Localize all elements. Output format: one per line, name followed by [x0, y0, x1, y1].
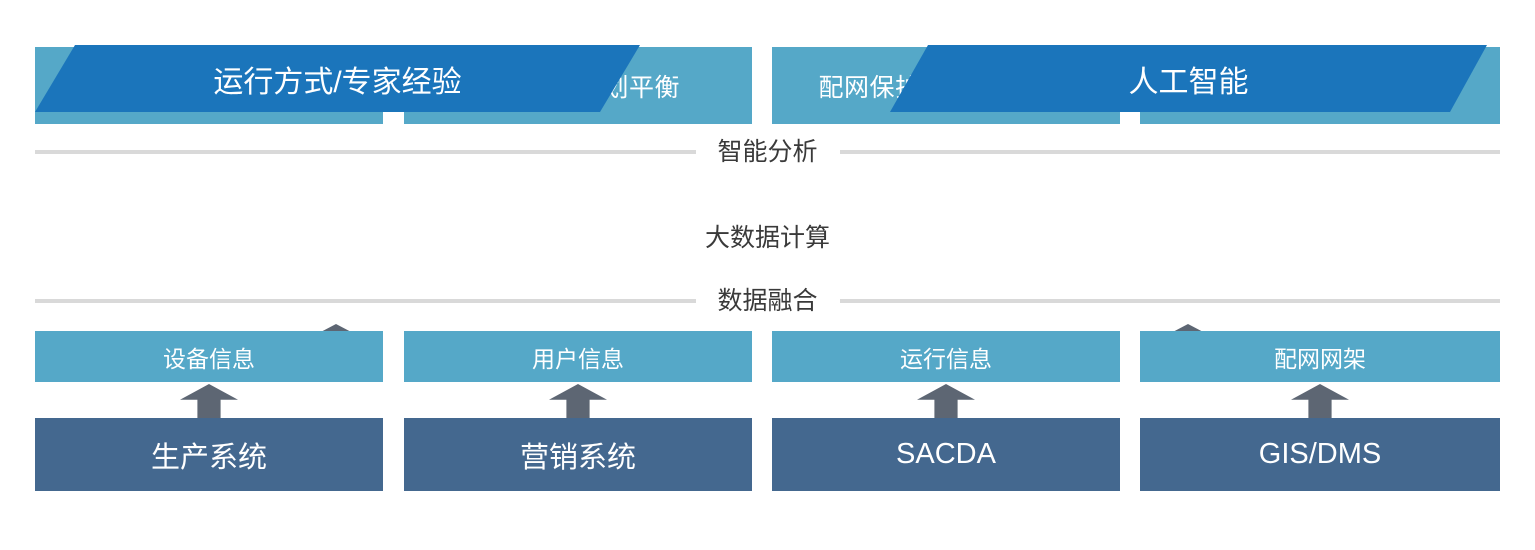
info-bar-label: 用户信息: [532, 340, 624, 374]
divider-rule-right: [840, 299, 1501, 303]
compute-band: [0, 160, 1535, 280]
divider-data-fusion: 数据融合: [0, 284, 1535, 318]
diagram-canvas: 供电能力智能分析 配网停电计划平衡 配网保护定值智能判定 配网转供电策略智能生成…: [0, 0, 1535, 550]
source-box-sacda[interactable]: SACDA: [772, 418, 1120, 491]
compute-block-artificial-intelligence[interactable]: 人工智能: [890, 45, 1487, 112]
up-arrow-icon-gis-dms: [1291, 384, 1349, 419]
source-box-marketing-system[interactable]: 营销系统: [404, 418, 752, 491]
info-bar-customer[interactable]: 用户信息: [404, 331, 752, 382]
info-bar-network-structure[interactable]: 配网网架: [1140, 331, 1500, 382]
divider-rule-left: [35, 150, 696, 154]
info-bar-operation[interactable]: 运行信息: [772, 331, 1120, 382]
up-arrow-icon-production-system: [180, 384, 238, 419]
source-box-label: 营销系统: [520, 434, 636, 476]
up-arrow-icon-sacda: [917, 384, 975, 419]
info-bar-label: 运行信息: [900, 340, 992, 374]
source-box-label: 生产系统: [151, 434, 267, 476]
compute-block-label: 人工智能: [1129, 57, 1249, 101]
compute-block-label: 运行方式/专家经验: [213, 57, 461, 101]
source-box-gis-dms[interactable]: GIS/DMS: [1140, 418, 1500, 491]
compute-block-expert-experience[interactable]: 运行方式/专家经验: [35, 45, 640, 112]
info-bar-label: 配网网架: [1274, 340, 1366, 374]
divider-caption-data-fusion: 数据融合: [696, 289, 840, 314]
up-arrow-icon-marketing-system: [549, 384, 607, 419]
divider-rule-left: [35, 299, 696, 303]
source-box-production-system[interactable]: 生产系统: [35, 418, 383, 491]
source-box-label: GIS/DMS: [1259, 438, 1381, 471]
source-box-label: SACDA: [896, 438, 996, 471]
info-bar-equipment[interactable]: 设备信息: [35, 331, 383, 382]
info-bar-label: 设备信息: [163, 340, 255, 374]
divider-rule-right: [840, 150, 1501, 154]
